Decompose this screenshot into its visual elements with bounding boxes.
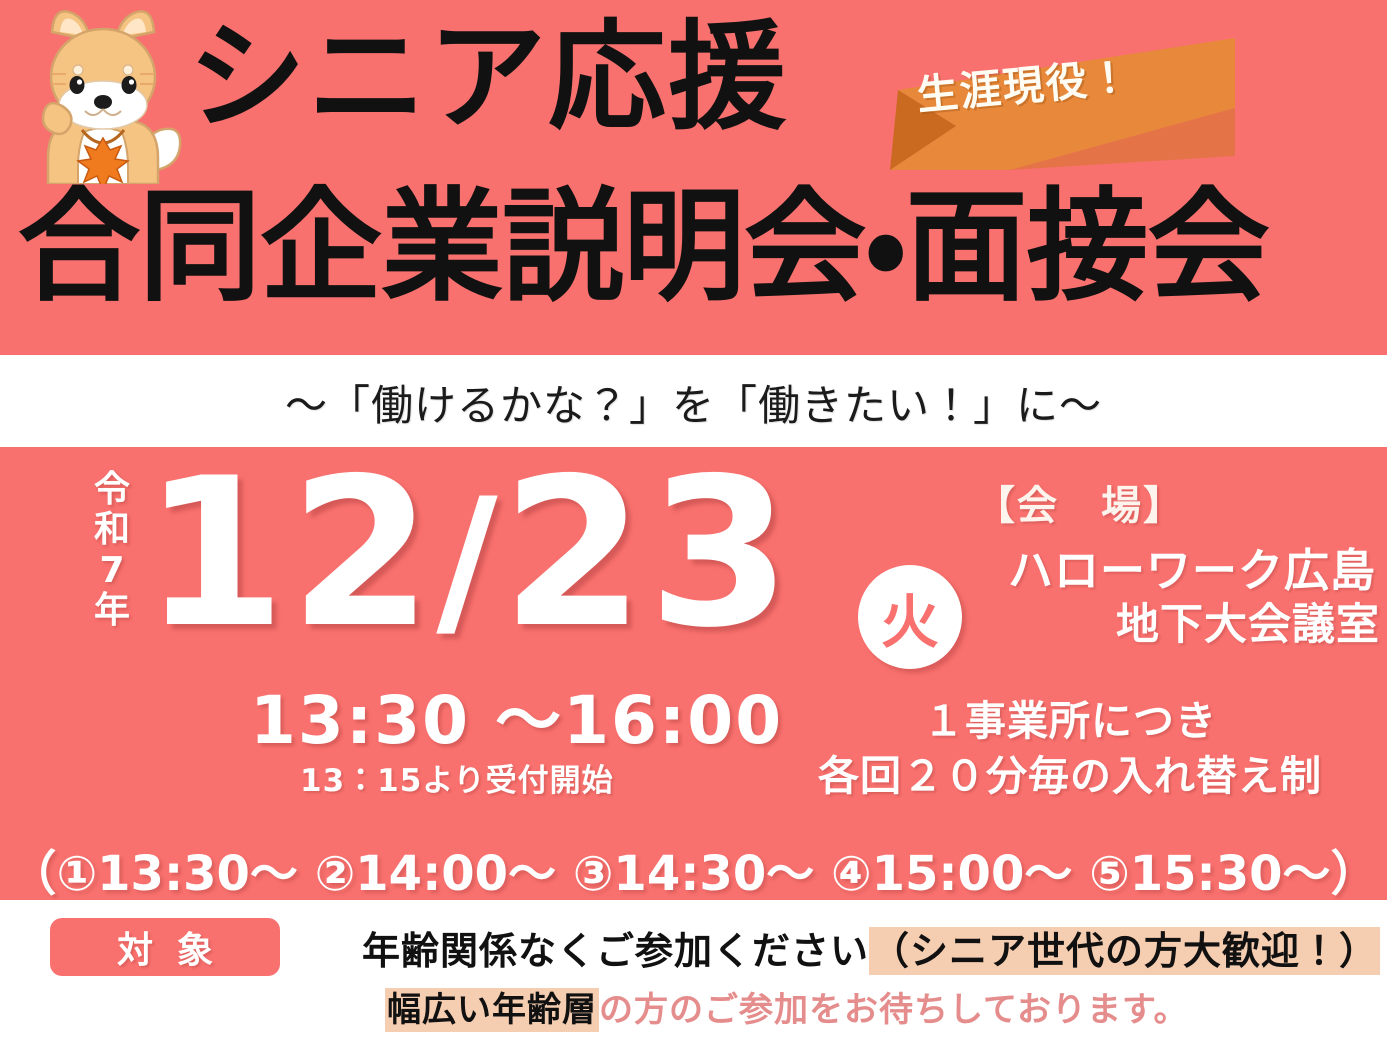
date-slash: / bbox=[436, 476, 501, 644]
era-char-0: 令 bbox=[86, 470, 138, 510]
rotation-system-note: １事業所につき 各回２０分毎の入れ替え制 bbox=[760, 694, 1380, 804]
era-char-3: 年 bbox=[86, 591, 138, 631]
target-description-line-1: 年齢関係なくご参加ください（シニア世代の方大歓迎！） bbox=[362, 920, 1380, 975]
event-date-large: 12/23 bbox=[143, 452, 795, 657]
event-tagline: 〜「働けるかな？」を「働きたい！」に〜 bbox=[0, 372, 1387, 433]
rotation-line-2: 各回２０分毎の入れ替え制 bbox=[760, 749, 1380, 804]
venue-label: 【会 場】 bbox=[975, 473, 1185, 531]
event-month: 12 bbox=[143, 435, 436, 673]
event-time-range: 13:30 〜16:00 bbox=[250, 688, 783, 754]
rotation-line-1: １事業所につき bbox=[760, 694, 1380, 749]
target-highlight-text: （シニア世代の方大歓迎！） bbox=[869, 927, 1380, 975]
event-day: 23 bbox=[502, 435, 795, 673]
poster-root: シニア応援 合同企業説明会・面接会 生涯現役！ 〜「働けるかな？」を「働きたい！… bbox=[0, 0, 1387, 1040]
target-badge: 対象 bbox=[50, 918, 280, 976]
target-age-range-highlight: 幅広い年齢層 bbox=[385, 988, 599, 1032]
target-plain-text: 年齢関係なくご参加ください bbox=[362, 929, 869, 973]
headline-senior-support: シニア応援 bbox=[188, 18, 788, 136]
era-year-vertical: 令 和 7 年 bbox=[86, 470, 138, 631]
target-description-line-2: 幅広い年齢層の方のご参加をお待ちしております。 bbox=[385, 982, 1189, 1031]
era-char-2: 7 bbox=[86, 551, 138, 591]
reception-start-note: 13：15より受付開始 bbox=[300, 766, 614, 797]
weekday-badge: 火 bbox=[858, 565, 962, 669]
lifelong-active-ribbon: 生涯現役！ bbox=[890, 38, 1235, 170]
venue-room: 地下大会議室 bbox=[960, 590, 1380, 652]
era-char-1: 和 bbox=[86, 510, 138, 550]
session-slots: （①13:30〜 ②14:00〜 ③14:30〜 ④15:00〜 ⑤15:30〜… bbox=[0, 834, 1387, 904]
target-closing-text: の方のご参加をお待ちしております。 bbox=[599, 990, 1189, 1030]
headline-main-event-title: 合同企業説明会・面接会 bbox=[18, 186, 1268, 308]
shiba-dog-mascot-icon bbox=[22, 2, 184, 184]
